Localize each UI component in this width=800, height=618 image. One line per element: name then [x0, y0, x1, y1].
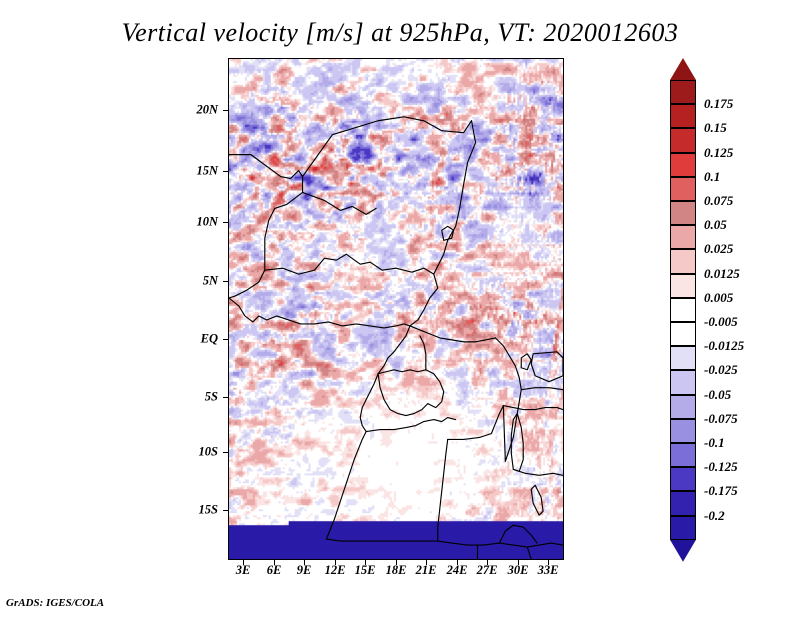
y-axis-label-10n: 10N	[178, 215, 218, 230]
y-axis-label-15n: 15N	[178, 164, 218, 179]
colorbar-tick-label: -0.125	[704, 459, 738, 475]
map-plot-area	[228, 58, 564, 560]
colorbar-tick-label: 0.05	[704, 217, 727, 233]
y-axis-label-5s: 5S	[178, 390, 218, 405]
y-tick	[223, 222, 228, 223]
colorbar: 0.1750.150.1250.10.0750.050.0250.01250.0…	[670, 58, 800, 563]
page-title: Vertical velocity [m/s] at 925hPa, VT: 2…	[0, 18, 800, 48]
x-axis-label-3e: 3E	[236, 563, 251, 578]
colorbar-band	[670, 128, 696, 152]
colorbar-tick-label: 0.005	[704, 290, 733, 306]
colorbar-band	[670, 322, 696, 346]
x-axis-label-27e: 27E	[477, 563, 498, 578]
colorbar-tick-label: 0.075	[704, 193, 733, 209]
x-axis-label-12e: 12E	[325, 563, 346, 578]
y-axis-label-20n: 20N	[178, 103, 218, 118]
country-borders-overlay	[229, 59, 563, 559]
colorbar-band	[670, 370, 696, 394]
x-axis-label-21e: 21E	[416, 563, 437, 578]
colorbar-cap-top	[670, 58, 696, 80]
colorbar-cap-bottom	[670, 540, 696, 562]
colorbar-band	[670, 249, 696, 273]
colorbar-tick-label: 0.175	[704, 96, 733, 112]
grads-attribution: GrADS: IGES/COLA	[6, 597, 104, 609]
colorbar-tick-label: 0.1	[704, 169, 720, 185]
y-tick	[223, 110, 228, 111]
y-axis-label-10s: 10S	[178, 445, 218, 460]
x-axis-label-24e: 24E	[447, 563, 468, 578]
colorbar-tick-label: -0.0125	[704, 338, 744, 354]
colorbar-band	[670, 298, 696, 322]
x-axis-label-15e: 15E	[355, 563, 376, 578]
y-axis-label-5n: 5N	[178, 274, 218, 289]
colorbar-tick-label: 0.0125	[704, 266, 740, 282]
y-tick	[223, 397, 228, 398]
colorbar-tick-label: 0.15	[704, 120, 727, 136]
colorbar-band	[670, 346, 696, 370]
x-axis-label-9e: 9E	[297, 563, 312, 578]
y-tick	[223, 171, 228, 172]
y-tick	[223, 281, 228, 282]
map-clip	[229, 59, 563, 559]
colorbar-band	[670, 104, 696, 128]
x-axis-label-30e: 30E	[508, 563, 529, 578]
y-axis-label-eq: EQ	[178, 332, 218, 347]
colorbar-band	[670, 395, 696, 419]
colorbar-tick-label: -0.05	[704, 387, 731, 403]
y-tick	[223, 510, 228, 511]
y-tick	[223, 339, 228, 340]
colorbar-tick-label: -0.075	[704, 411, 738, 427]
colorbar-tick-label: -0.005	[704, 314, 738, 330]
colorbar-band	[670, 153, 696, 177]
x-axis-label-33e: 33E	[538, 563, 559, 578]
colorbar-band	[670, 443, 696, 467]
colorbar-band	[670, 201, 696, 225]
colorbar-band	[670, 80, 696, 104]
colorbar-band	[670, 274, 696, 298]
colorbar-tick-label: -0.175	[704, 483, 738, 499]
colorbar-tick-label: 0.125	[704, 145, 733, 161]
colorbar-band	[670, 419, 696, 443]
colorbar-tick-label: -0.025	[704, 362, 738, 378]
colorbar-tick-label: -0.1	[704, 435, 725, 451]
y-axis-label-15s: 15S	[178, 503, 218, 518]
colorbar-band	[670, 225, 696, 249]
colorbar-band	[670, 516, 696, 540]
x-axis-label-18e: 18E	[386, 563, 407, 578]
y-tick	[223, 452, 228, 453]
colorbar-band	[670, 491, 696, 515]
colorbar-band	[670, 467, 696, 491]
colorbar-band	[670, 177, 696, 201]
x-axis-label-6e: 6E	[267, 563, 282, 578]
colorbar-tick-label: -0.2	[704, 508, 725, 524]
colorbar-tick-label: 0.025	[704, 241, 733, 257]
